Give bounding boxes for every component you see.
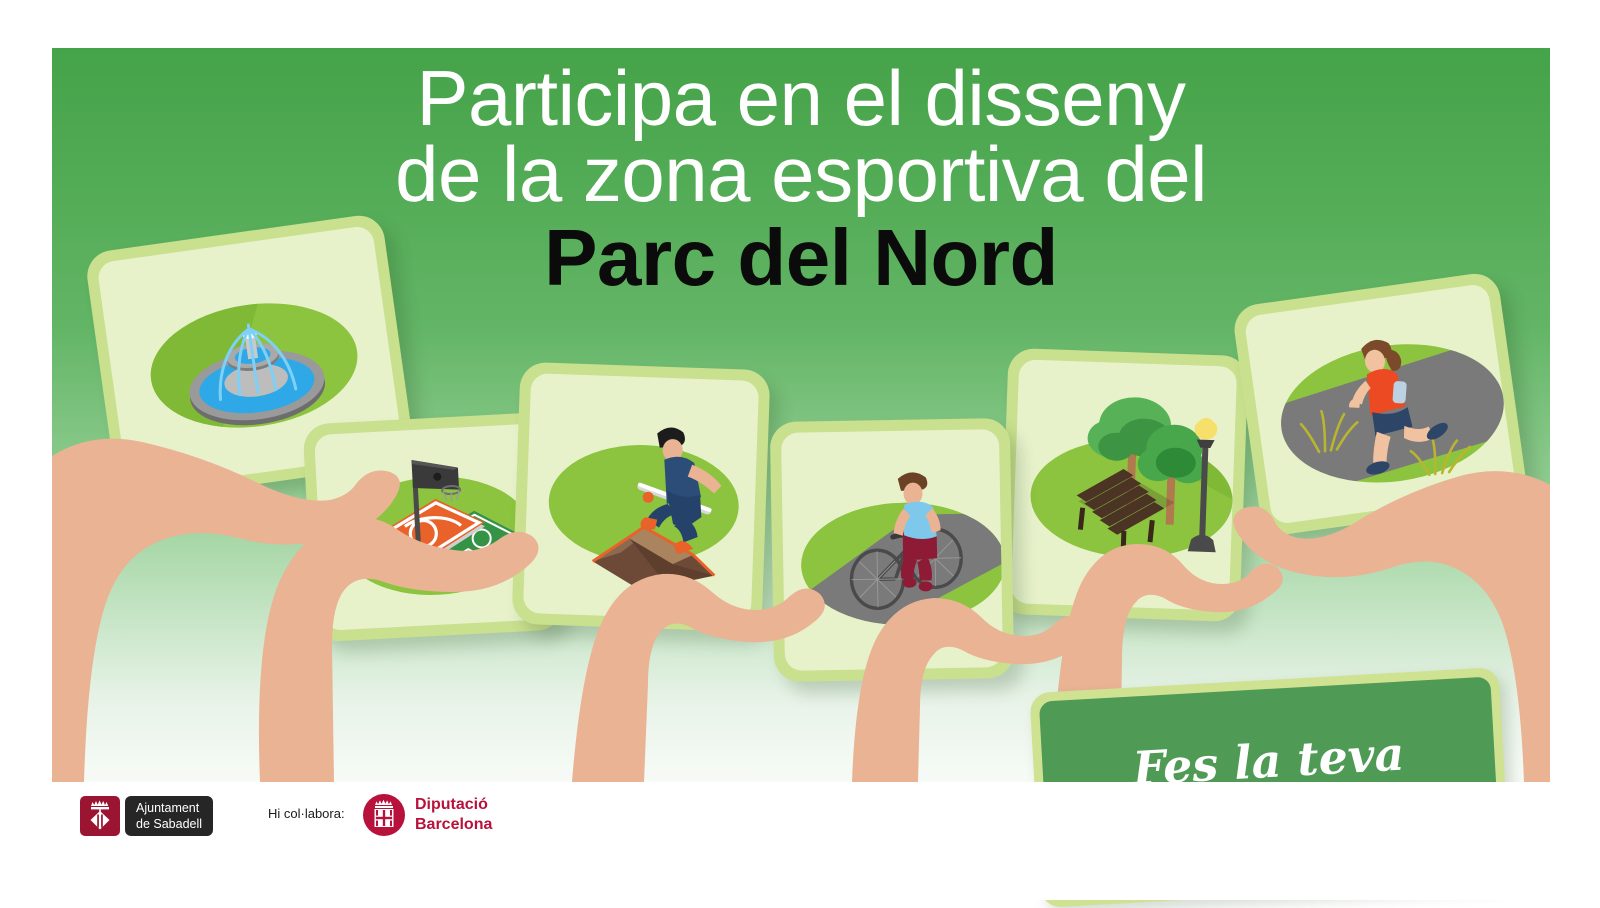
banner-background (52, 48, 1550, 782)
park-bench-icon (1011, 359, 1237, 610)
footer: Ajuntament de Sabadell Hi col·labora: (0, 782, 1600, 900)
logo-diputacio-barcelona[interactable]: Diputació Barcelona (363, 794, 492, 836)
runner-icon (1244, 283, 1517, 525)
card-park-bench[interactable] (999, 348, 1248, 622)
skateboarder-icon (523, 373, 759, 621)
diputacio-name: Diputació Barcelona (415, 795, 492, 834)
cyclist-icon (781, 429, 1003, 671)
ajuntament-line-1: Ajuntament (136, 800, 202, 816)
ajuntament-name-plate: Ajuntament de Sabadell (125, 796, 213, 836)
diputacio-crest-icon (363, 794, 405, 836)
sabadell-crest-icon (80, 796, 120, 836)
sabadell-crest-svg (80, 796, 120, 836)
card-bike-inner (781, 429, 1003, 671)
diputacio-crest-svg (363, 794, 405, 836)
card-bike-path[interactable] (770, 418, 1015, 682)
ajuntament-line-2: de Sabadell (136, 816, 202, 832)
card-skate-inner (523, 373, 759, 621)
diputacio-line-2: Barcelona (415, 815, 492, 835)
card-skatepark[interactable] (512, 362, 771, 633)
card-run-inner (1244, 283, 1517, 525)
logo-ajuntament-sabadell[interactable]: Ajuntament de Sabadell (80, 796, 213, 836)
collaborate-label: Hi col·labora: (268, 806, 345, 821)
card-running-circuit[interactable] (1231, 270, 1529, 537)
poster-root: Participa en el disseny de la zona espor… (0, 0, 1600, 900)
card-bench-inner (1011, 359, 1237, 610)
diputacio-line-1: Diputació (415, 795, 492, 815)
